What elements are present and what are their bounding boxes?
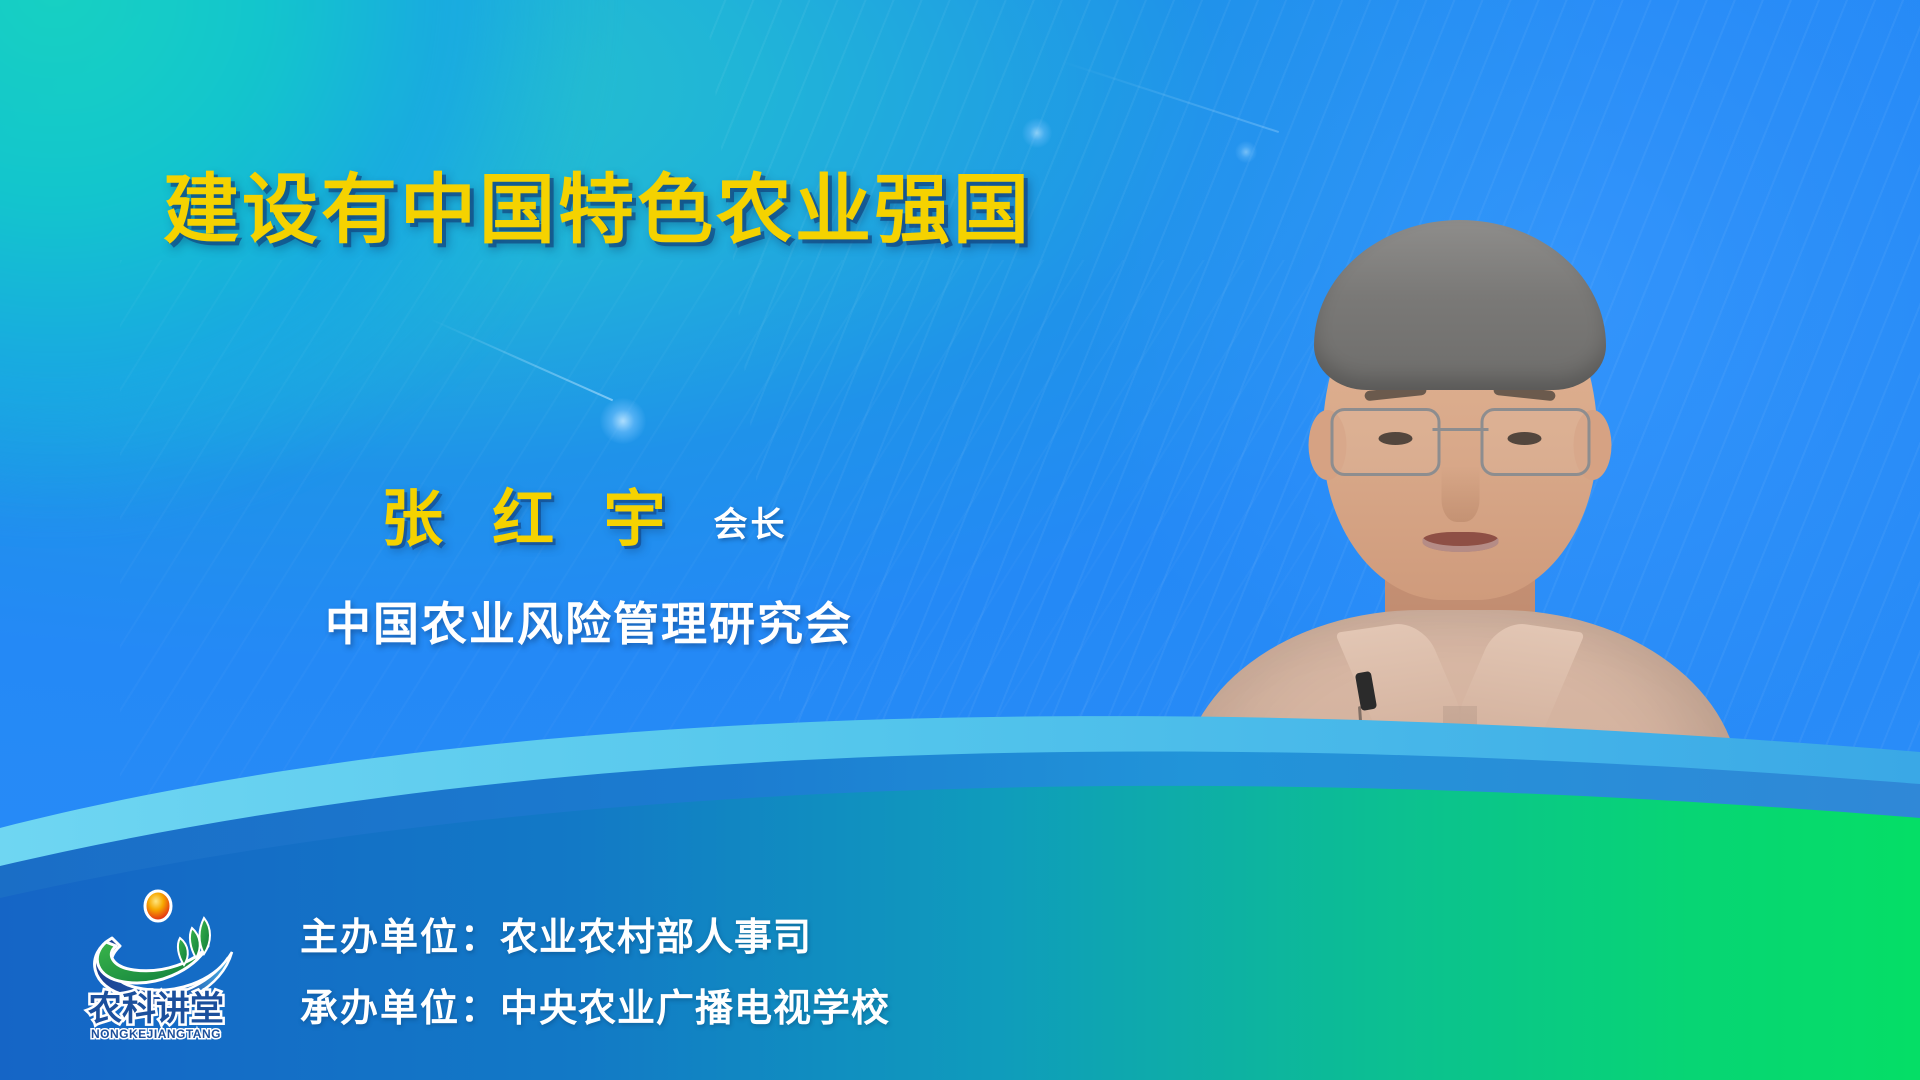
speaker-hair [1314,220,1606,390]
speaker-shirt-button [1454,872,1467,885]
presenter-organization: 中国农业风险管理研究会 [325,588,853,654]
organizer-value-coordinator: 中央农业广播电视学校 [500,988,890,1030]
eyeglasses-icon [1326,408,1594,474]
presenter-name: 张 红 宇 [381,468,681,558]
eyeglass-lens-left [1330,408,1440,476]
program-logo: 农科讲堂 NONGKEJIANGTANG [72,884,240,1052]
speaker-hands [1330,988,1590,1080]
organizer-lines: 主办单位：农业农村部人事司 承办单位：中央农业广播电视学校 [300,906,890,1032]
microphone-cord [1358,706,1377,936]
speaker-shirt-button [1454,780,1467,793]
speaker-nose [1441,466,1479,522]
eyeglass-lens-right [1480,408,1590,476]
organizer-label-coordinator: 承办单位： [300,988,500,1030]
broadcast-title-card: 建设有中国特色农业强国 张 红 宇 会长 中国农业风险管理研究会 [0,0,1920,1080]
speaker-mouth [1422,532,1498,552]
speaker-portrait [1140,200,1780,1080]
organizer-line-coordinator: 承办单位：中央农业广播电视学校 [300,977,890,1032]
speaker-shirt-button [1454,964,1467,977]
logo-title-pinyin: NONGKEJIANGTANG [91,1027,221,1041]
organizer-value-host: 农业农村部人事司 [500,917,812,959]
presenter-line: 张 红 宇 会长 [381,468,787,558]
presenter-role: 会长 [713,497,787,546]
logo-title-cn: 农科讲堂 [88,990,224,1028]
organizer-label-host: 主办单位： [300,917,500,959]
organizer-line-host: 主办单位：农业农村部人事司 [300,906,890,961]
page-title: 建设有中国特色农业强国 [163,148,1032,258]
eyeglass-bridge [1432,428,1488,431]
